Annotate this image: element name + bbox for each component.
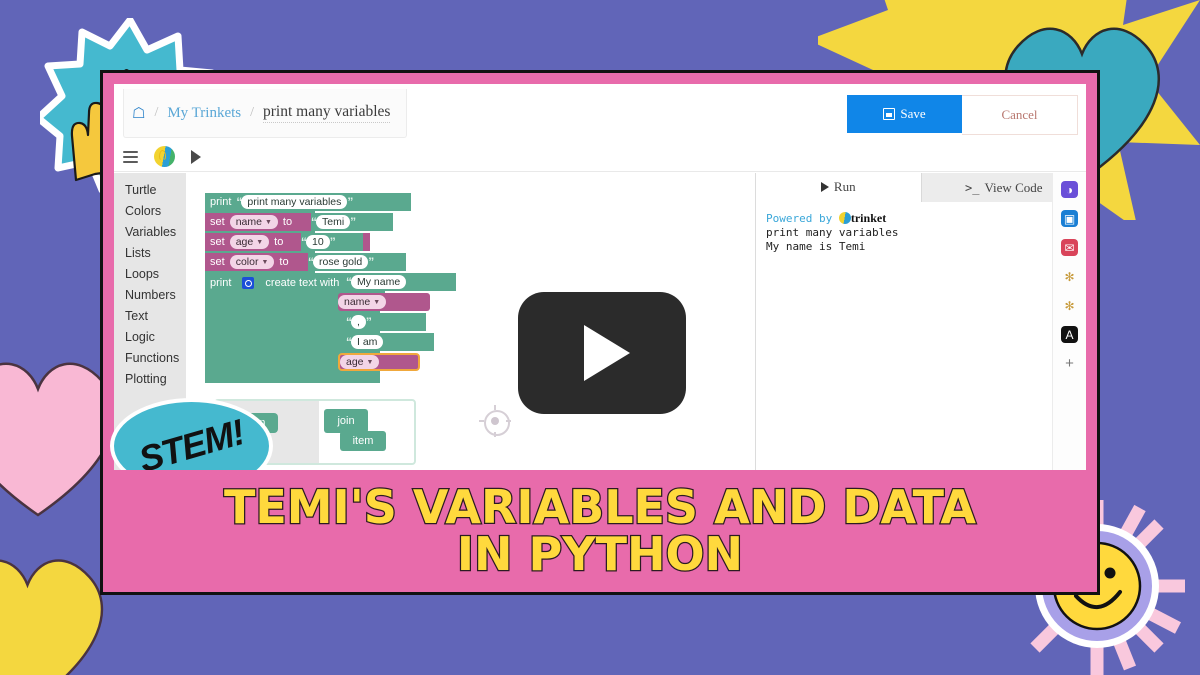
floppy-disk-icon xyxy=(883,108,895,120)
block-set-color-value-wrap[interactable]: “ rose gold ” xyxy=(308,253,406,271)
text-item-2-value[interactable]: , xyxy=(351,315,366,329)
text-item-1[interactable]: name▼ xyxy=(338,293,430,311)
trinket-mini-logo-icon xyxy=(839,212,851,224)
powered-by-text: Powered by xyxy=(766,212,832,225)
title-banner: TEMI'S VARIABLES AND DATA IN PYTHON xyxy=(100,470,1100,595)
extension-icon-blue[interactable]: ▣ xyxy=(1061,210,1078,227)
extension-icon-bee-1[interactable]: ✻ xyxy=(1061,268,1078,285)
block-set-age-to: to xyxy=(269,236,288,248)
palette-item-logic[interactable]: Logic xyxy=(114,326,186,347)
output-line-2: My name is Temi xyxy=(766,240,1076,254)
mutator-join-label: join xyxy=(332,415,359,427)
block-set-name-label: set xyxy=(205,216,230,228)
run-play-icon[interactable] xyxy=(191,150,201,164)
home-icon[interactable]: ☖ xyxy=(132,106,145,121)
editor-toolbar xyxy=(114,142,1086,172)
crosshair-tick-right xyxy=(506,420,511,422)
hamburger-menu-icon[interactable] xyxy=(123,151,138,163)
quote-close-2: ” xyxy=(350,215,355,229)
palette-item-colors[interactable]: Colors xyxy=(114,200,186,221)
block-set-name-to: to xyxy=(278,216,297,228)
block-set-age-value-wrap[interactable]: “ 10 ” xyxy=(301,233,363,251)
breadcrumb-separator-2: / xyxy=(250,105,254,121)
breadcrumb-current-title[interactable]: print many variables xyxy=(263,103,390,123)
block-set-color-to: to xyxy=(274,256,293,268)
palette-item-numbers[interactable]: Numbers xyxy=(114,284,186,305)
text-item-1-value[interactable]: name▼ xyxy=(338,295,386,309)
breadcrumb-parent-link[interactable]: My Trinkets xyxy=(167,105,241,122)
crosshair-tick-top xyxy=(494,405,496,410)
output-tabs: Run >_ View Code xyxy=(756,173,1086,203)
block-set-color-variable[interactable]: color▼ xyxy=(230,255,275,269)
powered-by-line: Powered by trinket xyxy=(766,211,1076,226)
block-print-1-label: print xyxy=(205,196,236,208)
extension-icon-purple[interactable]: ◑ xyxy=(1061,181,1078,198)
cancel-button[interactable]: Cancel xyxy=(962,95,1078,135)
block-set-color-label: set xyxy=(205,256,230,268)
thumbnail-canvas: ☖ / My Trinkets / print many variables S… xyxy=(0,0,1200,675)
palette-item-variables[interactable]: Variables xyxy=(114,221,186,242)
palette-item-turtle[interactable]: Turtle xyxy=(114,179,186,200)
block-print-1-value[interactable]: print many variables xyxy=(241,195,347,209)
palette-item-functions[interactable]: Functions xyxy=(114,347,186,368)
extension-add-icon[interactable]: + xyxy=(1061,355,1078,372)
tab-run[interactable]: Run xyxy=(756,173,921,202)
palette-item-lists[interactable]: Lists xyxy=(114,242,186,263)
quote-close-3: ” xyxy=(330,235,335,249)
quote-close-1: ” xyxy=(347,195,352,209)
block-print-1[interactable]: print “ print many variables ” xyxy=(205,193,411,211)
block-set-name-value-wrap[interactable]: “ Temi ” xyxy=(311,213,393,231)
block-set-name-value[interactable]: Temi xyxy=(316,215,350,229)
breadcrumb: ☖ / My Trinkets / print many variables xyxy=(123,89,407,138)
text-item-2[interactable]: “ , ” xyxy=(346,313,426,331)
block-set-age-variable[interactable]: age▼ xyxy=(230,235,269,249)
palette-item-text[interactable]: Text xyxy=(114,305,186,326)
extension-icon-bee-2[interactable]: ✻ xyxy=(1061,297,1078,314)
extension-icon-red[interactable]: ✉ xyxy=(1061,239,1078,256)
mutator-join-block[interactable]: join xyxy=(324,409,368,433)
text-item-4[interactable]: age▼ xyxy=(338,353,420,371)
palette-item-loops[interactable]: Loops xyxy=(114,263,186,284)
text-item-3[interactable]: “ I am xyxy=(346,333,434,351)
play-icon xyxy=(821,182,829,192)
block-set-name-variable[interactable]: name▼ xyxy=(230,215,278,229)
text-item-0[interactable]: “ My name xyxy=(346,273,456,291)
output-line-1: print many variables xyxy=(766,226,1076,240)
trinket-logo-icon[interactable] xyxy=(154,146,175,167)
terminal-icon: >_ xyxy=(965,181,979,195)
app-header: ☖ / My Trinkets / print many variables S… xyxy=(114,84,1086,142)
tab-view-code-label: View Code xyxy=(984,180,1042,196)
block-print-2-label: print xyxy=(205,277,236,289)
breadcrumb-separator-1: / xyxy=(154,105,158,121)
quote-close-6: ” xyxy=(366,315,371,329)
block-set-age-label: set xyxy=(205,236,230,248)
create-text-with-label: create text with xyxy=(260,277,344,289)
trinket-brand: trinket xyxy=(851,211,886,225)
mutator-gear-icon[interactable] xyxy=(242,277,254,289)
quote-close-4: ” xyxy=(368,255,373,269)
yellow-heart xyxy=(0,552,115,675)
title-line-1: TEMI'S VARIABLES AND DATA xyxy=(224,484,976,531)
text-item-0-value[interactable]: My name xyxy=(351,275,406,289)
title-line-2: IN PYTHON xyxy=(457,531,743,578)
extension-icon-grammarly[interactable]: A xyxy=(1061,326,1078,343)
palette-item-plotting[interactable]: Plotting xyxy=(114,368,186,389)
block-set-age-value[interactable]: 10 xyxy=(306,235,330,249)
crosshair-tick-bottom xyxy=(494,432,496,437)
cancel-button-label: Cancel xyxy=(1001,107,1037,123)
save-button-label: Save xyxy=(900,106,925,122)
block-set-color-value[interactable]: rose gold xyxy=(313,255,368,269)
mutator-join-child[interactable]: item xyxy=(340,431,386,451)
text-item-4-value[interactable]: age▼ xyxy=(340,355,379,369)
text-item-3-value[interactable]: I am xyxy=(351,335,383,349)
mutator-join-child-label: item xyxy=(348,435,379,447)
crosshair-tick-left xyxy=(479,420,484,422)
header-actions: Save Cancel xyxy=(847,95,1078,135)
save-button[interactable]: Save xyxy=(847,95,962,133)
play-button-overlay-icon[interactable] xyxy=(518,292,686,414)
tab-run-label: Run xyxy=(834,179,856,195)
crosshair-target-icon[interactable] xyxy=(484,410,510,436)
